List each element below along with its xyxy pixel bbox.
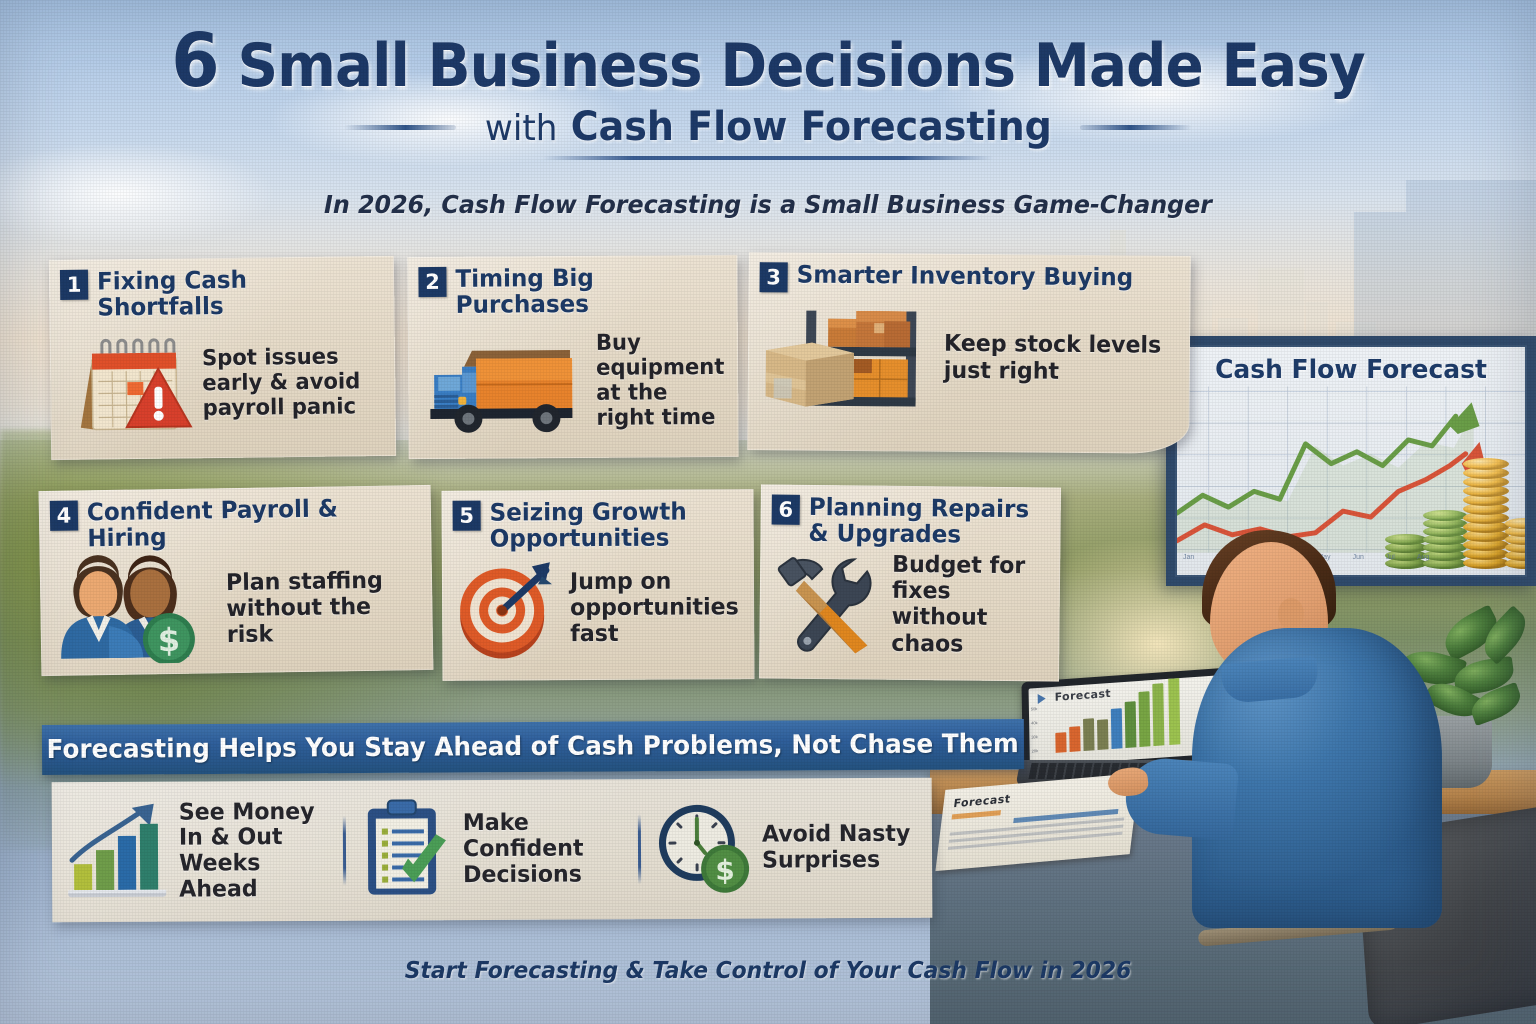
card-title: Fixing Cash Shortfalls	[97, 266, 373, 321]
card-header: 3 Smarter Inventory Buying	[749, 252, 1191, 296]
card-title: Planning Repairs & Upgrades	[808, 495, 1041, 549]
card-number-badge: 6	[772, 495, 800, 525]
card-header: 2 Timing Big Purchases	[407, 255, 737, 319]
title-text: Small Business Decisions Made Easy	[237, 31, 1364, 101]
card-header: 6 Planning Repairs & Upgrades	[760, 484, 1061, 549]
card-text: Buy equipment at the right time	[596, 330, 725, 431]
laptop-bar	[1069, 726, 1080, 752]
page-title: 6 Small Business Decisions Made Easy wit…	[0, 22, 1536, 160]
laptop-screen-title: Forecast	[1055, 687, 1112, 704]
benefit-item-1[interactable]: See Money In & Out Weeks Ahead	[52, 796, 344, 907]
card-header: 5 Seizing Growth Opportunities	[442, 489, 754, 552]
card-text: Spot issues early & avoid payroll panic	[202, 344, 379, 421]
title-rule-right	[1080, 125, 1192, 130]
card-title: Confident Payroll & Hiring	[87, 495, 408, 552]
laptop-bar	[1097, 719, 1108, 750]
summary-banner: Forecasting Helps You Stay Ahead of Cash…	[42, 719, 1024, 775]
forecast-chart-title: Cash Flow Forecast	[1184, 355, 1518, 385]
title-subtitle: with Cash Flow Forecasting	[485, 104, 1052, 150]
growth-bar-chart-arrow-icon	[64, 797, 171, 907]
infographic-canvas: 6 Small Business Decisions Made Easy wit…	[0, 0, 1536, 1024]
decision-card-5[interactable]: 5 Seizing Growth Opportunities Jump	[442, 489, 755, 681]
card-number-badge: 5	[453, 501, 481, 531]
benefit-label: Make Confident Decisions	[463, 811, 623, 889]
footer-callout: Start Forecasting & Take Control of Your…	[38, 958, 1497, 984]
card-text: Budget for fixes without chaos	[891, 552, 1044, 658]
target-dart-icon	[454, 554, 563, 664]
laptop-y-tick: 50k	[1031, 706, 1038, 711]
clipboard-checkmark-icon	[358, 796, 455, 906]
laptop-y-tick: 40k	[1031, 720, 1038, 725]
play-triangle-icon	[1038, 693, 1046, 704]
laptop-bar	[1055, 732, 1066, 753]
laptop-bar	[1083, 718, 1095, 751]
card-header: 4 Confident Payroll & Hiring	[39, 485, 432, 553]
laptop-bar	[1111, 708, 1123, 749]
title-underline	[543, 156, 993, 160]
laptop-bar	[1125, 701, 1137, 748]
title-number: 6	[171, 18, 218, 104]
title-rule-left	[344, 125, 456, 130]
card-text: Jump on opportunities fast	[570, 568, 739, 648]
decision-card-4[interactable]: 4 Confident Payroll & Hiring	[39, 485, 434, 676]
team-dollar-coin-icon: $	[52, 552, 220, 670]
benefit-label: See Money In & Out Weeks Ahead	[179, 799, 330, 903]
laptop-y-tick: 20k	[1032, 748, 1039, 753]
decision-card-6[interactable]: 6 Planning Repairs & Upgrades Budget for…	[759, 484, 1061, 681]
benefit-item-3[interactable]: $ Avoid Nasty Surprises	[640, 795, 932, 902]
laptop-bar	[1138, 691, 1150, 747]
delivery-truck-icon	[420, 320, 589, 444]
card-title: Timing Big Purchases	[455, 265, 716, 319]
svg-text:$: $	[157, 621, 180, 659]
decision-card-3[interactable]: 3 Smarter Inventory Buying	[747, 252, 1191, 454]
title-main-line: 6 Small Business Decisions Made Easy	[46, 22, 1490, 100]
card-number-badge: 2	[418, 267, 446, 297]
card-title: Seizing Growth Opportunities	[490, 499, 734, 552]
title-subtitle-prefix: with	[485, 108, 558, 149]
banner-text: Forecasting Helps You Stay Ahead of Cash…	[47, 729, 1019, 765]
warehouse-shelf-boxes-icon	[759, 294, 936, 419]
title-subtitle-main: Cash Flow Forecasting	[570, 104, 1051, 150]
laptop-bar	[1152, 683, 1164, 746]
title-subtitle-row: with Cash Flow Forecasting	[0, 104, 1536, 150]
decision-card-1[interactable]: 1 Fixing Cash Shortfalls	[49, 256, 396, 460]
paper-title: Forecast	[953, 782, 1129, 810]
calendar-warning-icon	[62, 322, 195, 447]
card-body: Budget for fixes without chaos	[759, 546, 1060, 668]
person-ear	[1278, 598, 1304, 630]
card-body: Buy equipment at the right time	[408, 317, 739, 452]
card-number-badge: 4	[50, 500, 78, 530]
card-text: Keep stock levels just right	[944, 331, 1171, 385]
card-body: Jump on opportunities fast	[442, 551, 755, 672]
benefit-label: Avoid Nasty Surprises	[762, 822, 918, 874]
card-text: Plan staffing without the risk	[226, 567, 415, 649]
card-body: Keep stock levels just right	[747, 292, 1190, 429]
decision-card-2[interactable]: 2 Timing Big Purchases	[407, 255, 738, 459]
card-number-badge: 3	[760, 262, 788, 292]
benefits-strip: See Money In & Out Weeks Ahead	[52, 778, 933, 923]
card-number-badge: 1	[60, 270, 88, 300]
card-body: Spot issues early & avoid payroll panic	[50, 318, 397, 455]
benefit-item-2[interactable]: Make Confident Decisions	[346, 795, 638, 906]
paper-accent-line	[952, 810, 1001, 819]
laptop-y-tick: 30k	[1031, 734, 1038, 739]
tagline: In 2026, Cash Flow Forecasting is a Smal…	[38, 190, 1497, 219]
card-body: $ Plan staffing without the risk	[40, 547, 434, 676]
hammer-wrench-icon	[771, 548, 884, 658]
clock-dollar-coin-icon: $	[652, 796, 753, 902]
card-header: 1 Fixing Cash Shortfalls	[49, 256, 395, 322]
svg-text:$: $	[715, 853, 735, 886]
card-title: Smarter Inventory Buying	[797, 262, 1134, 291]
laptop-bar	[1168, 676, 1180, 745]
